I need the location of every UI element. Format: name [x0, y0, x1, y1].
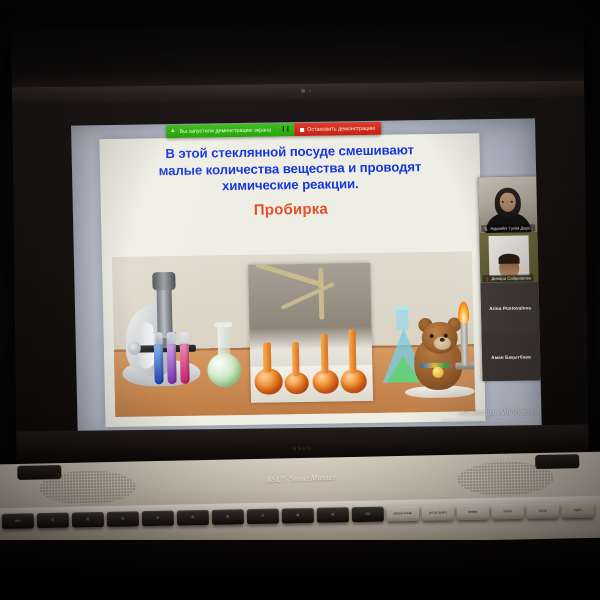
pause-icon: ❙❙ [281, 127, 290, 133]
key-f10[interactable]: f10 [352, 507, 384, 523]
participant-tile-2[interactable]: 🎙 Динара Сайдиярова [479, 232, 538, 283]
key-f4[interactable]: f4 [142, 511, 174, 527]
flask-lip [214, 322, 232, 327]
key-f5[interactable]: f5 [177, 510, 209, 526]
participant-tile-1[interactable]: 🎙 Нурсейіт Гүлім Дарх... [478, 176, 537, 233]
pause-share-button[interactable]: ❙❙ [277, 123, 294, 136]
screenshare-status-label: Вы запустили демонстрацию экрана [180, 127, 272, 134]
microscope-eyepiece [152, 272, 175, 290]
windows-activation-watermark: Активация Windows Чтобы активировать Win… [441, 407, 534, 423]
gold-medal-icon [432, 367, 443, 378]
slide-image-lab-equipment [112, 251, 475, 417]
participant-filmstrip[interactable]: 🎙 Нурсейіт Гүлім Дарх... 🎙 Динара Сайдия… [478, 176, 540, 381]
laptop-screen: ▲ Вы запустили демонстрацию экрана ❙❙ Ос… [71, 118, 542, 443]
stop-share-button[interactable]: Остановить демонстрацию [294, 122, 381, 136]
stop-share-label: Остановить демонстрацию [307, 125, 375, 132]
microscope-tube [156, 282, 172, 338]
bear-eye-right [444, 334, 448, 338]
key-f2[interactable]: f2 [72, 512, 104, 528]
participant-tile-4[interactable]: Аман Бақытбаев [482, 332, 541, 381]
participant-3-name: Arina Pustovalova [489, 305, 531, 311]
speaker-grille-left [39, 469, 136, 505]
participant-1-nameplate: 🎙 Нурсейіт Гүлім Дарх... [481, 224, 535, 231]
test-tube-pink [180, 344, 190, 384]
key-f9[interactable]: f9 [317, 507, 349, 523]
volumetric-flask-neck-2 [292, 342, 300, 376]
key-pgdn[interactable]: pgdn [562, 503, 594, 519]
participant-tile-3[interactable]: Arina Pustovalova [481, 282, 540, 333]
key-f8[interactable]: f8 [282, 508, 314, 524]
watermark-line-1: Активация Windows [441, 407, 534, 417]
key-prt-sc-sysrq[interactable]: prt sc sysrq [422, 505, 454, 521]
participant-2-name: Динара Сайдиярова [491, 275, 531, 281]
bunsen-burner [460, 319, 468, 365]
erlenmeyer-neck [396, 308, 408, 330]
key-f3[interactable]: f3 [107, 511, 139, 527]
mic-muted-icon: 🎙 [484, 276, 489, 281]
key-pgup[interactable]: pgup [527, 503, 559, 519]
key-f1[interactable]: f1 [37, 513, 69, 529]
participant-1-name: Нурсейіт Гүлім Дарх... [490, 225, 533, 231]
volumetric-flask-neck-1 [263, 342, 272, 372]
participant-4-name: Аман Бақытбаев [491, 354, 531, 360]
inset-photo-volumetric-flasks [248, 263, 373, 403]
slide-text-block: В этой стеклянной посуде смешивают малые… [99, 133, 481, 221]
key-esc[interactable]: esc [2, 513, 34, 529]
photograph-of-laptop: ▲ Вы запустили демонстрацию экрана ❙❙ Ос… [0, 0, 600, 600]
screenshare-status: ▲ Вы запустили демонстрацию экрана [166, 123, 277, 138]
volumetric-flask-neck-3 [321, 334, 329, 374]
flame-icon [458, 301, 469, 323]
lid-brand-logo: ASUS [293, 446, 312, 452]
erlenmeyer-lip [393, 306, 411, 310]
key-f6[interactable]: f6 [212, 509, 244, 525]
participant-2-hair [498, 254, 519, 264]
screen-share-icon: ▲ [170, 129, 176, 135]
webcam-icon [301, 89, 305, 93]
key-home[interactable]: home [492, 504, 524, 520]
shared-slide: В этой стеклянной посуде смешивают малые… [99, 133, 485, 427]
slide-title: Пробирка [107, 198, 475, 221]
foreground-shadow [0, 540, 600, 600]
watermark-line-2: Чтобы активировать Windows, перейдите в [441, 417, 533, 423]
mic-on-icon: 🎙 [483, 226, 488, 231]
volumetric-flask-neck-4 [349, 329, 357, 373]
microscope-focus-knob [128, 342, 141, 355]
speaker-grille-right [457, 461, 554, 497]
test-tube-blue [154, 344, 164, 384]
bear-eye-left [430, 334, 434, 338]
key-pause-break[interactable]: pause break [387, 506, 419, 522]
stop-square-icon [300, 127, 304, 131]
test-tube-purple [167, 344, 177, 384]
key-f7[interactable]: f7 [247, 509, 279, 525]
bear-nose [440, 338, 445, 342]
laptop-lid: ▲ Вы запустили демонстрацию экрана ❙❙ Ос… [11, 23, 588, 466]
participant-2-backdrop [489, 235, 530, 276]
participant-2-nameplate: 🎙 Динара Сайдиярова [482, 274, 533, 281]
key-delete[interactable]: delete [457, 505, 489, 521]
sonicmaster-branding: ASUS SonicMaster [266, 473, 337, 485]
